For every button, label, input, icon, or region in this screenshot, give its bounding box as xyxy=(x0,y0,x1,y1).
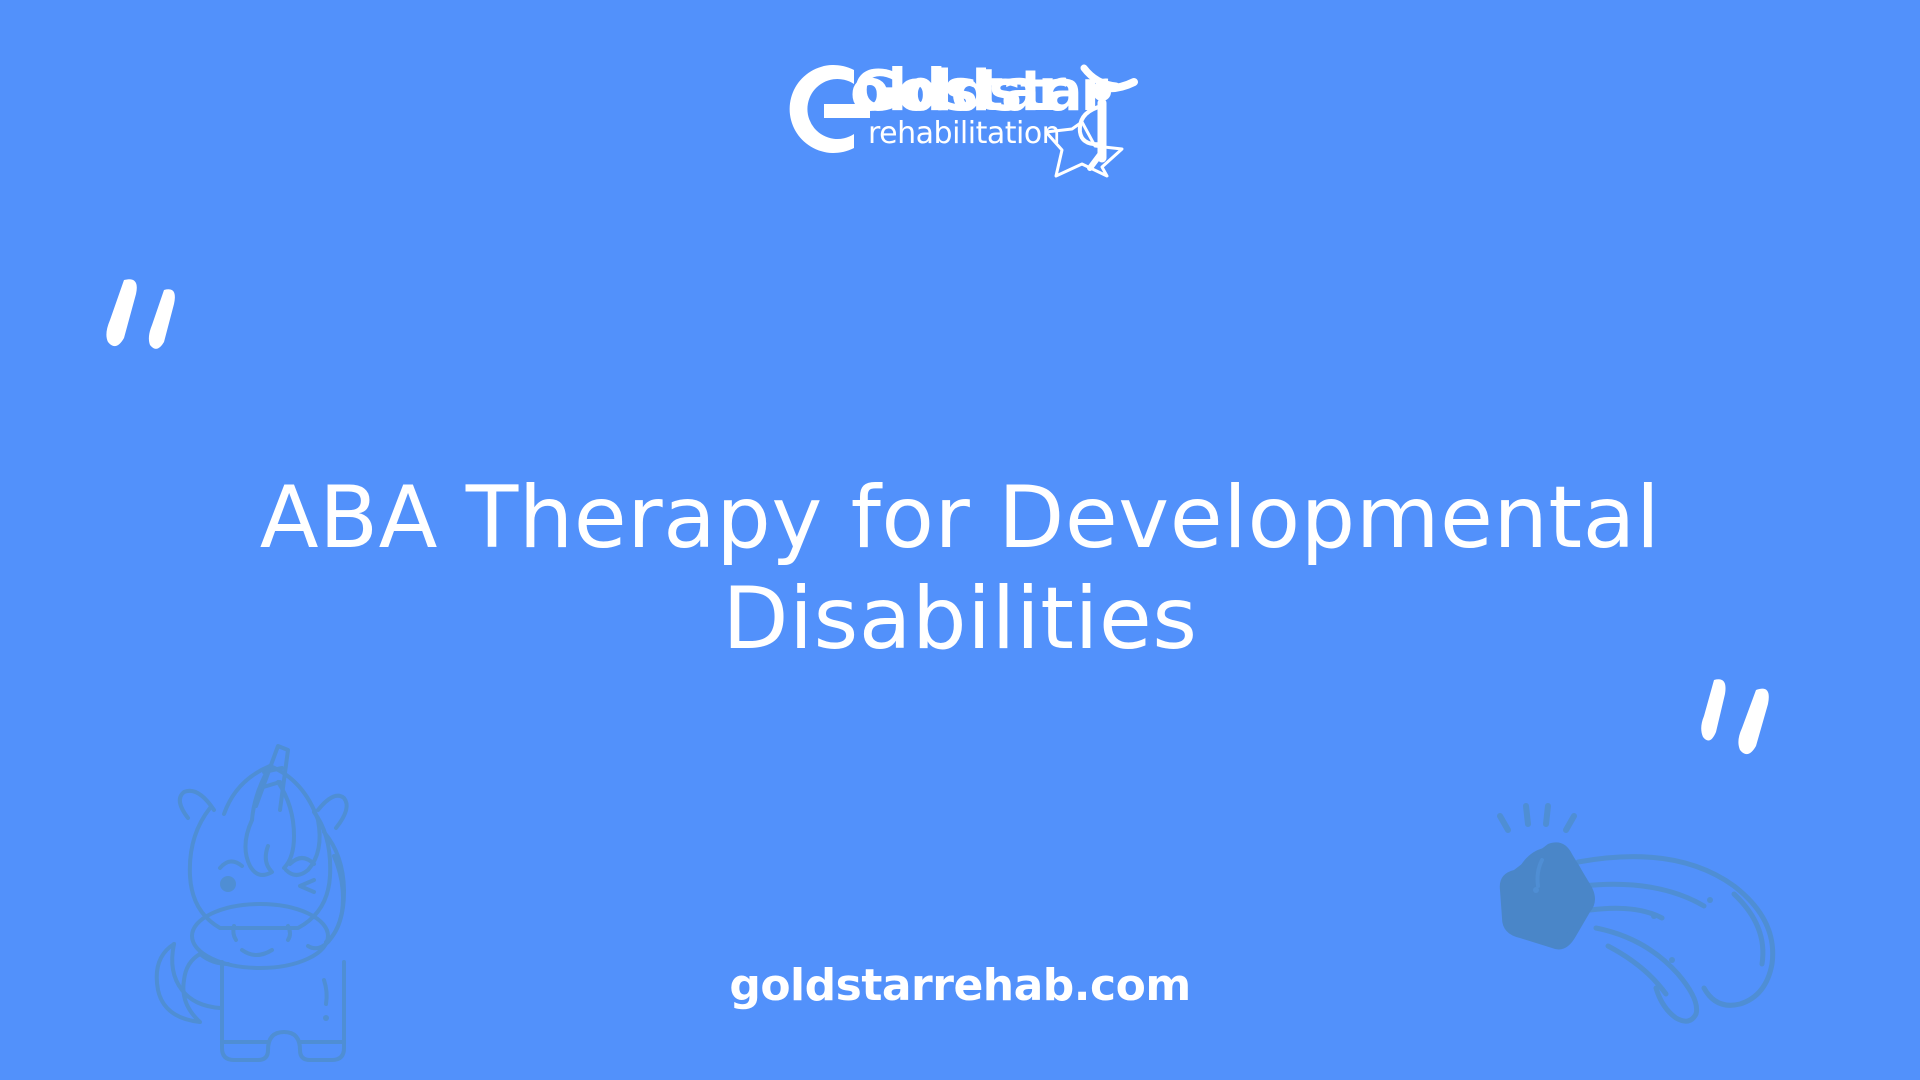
website-url[interactable]: goldstarrehab.com xyxy=(729,960,1190,1011)
goldstar-logo[interactable]: Goldstar oldstar rehabilitation xyxy=(750,48,1170,178)
logo-tagline: rehabilitation xyxy=(868,116,1060,151)
logo-wordmark-text: oldstar xyxy=(850,56,1067,124)
slide-canvas: Goldstar oldstar rehabilitation xyxy=(0,0,1920,1080)
opening-quotation-mark xyxy=(104,272,194,358)
unicorn-illustration xyxy=(128,736,378,1080)
closing-quotation-mark xyxy=(1700,670,1790,756)
page-title: ABA Therapy for Developmental Disabiliti… xyxy=(220,468,1700,671)
shooting-star-illustration xyxy=(1466,778,1786,1046)
